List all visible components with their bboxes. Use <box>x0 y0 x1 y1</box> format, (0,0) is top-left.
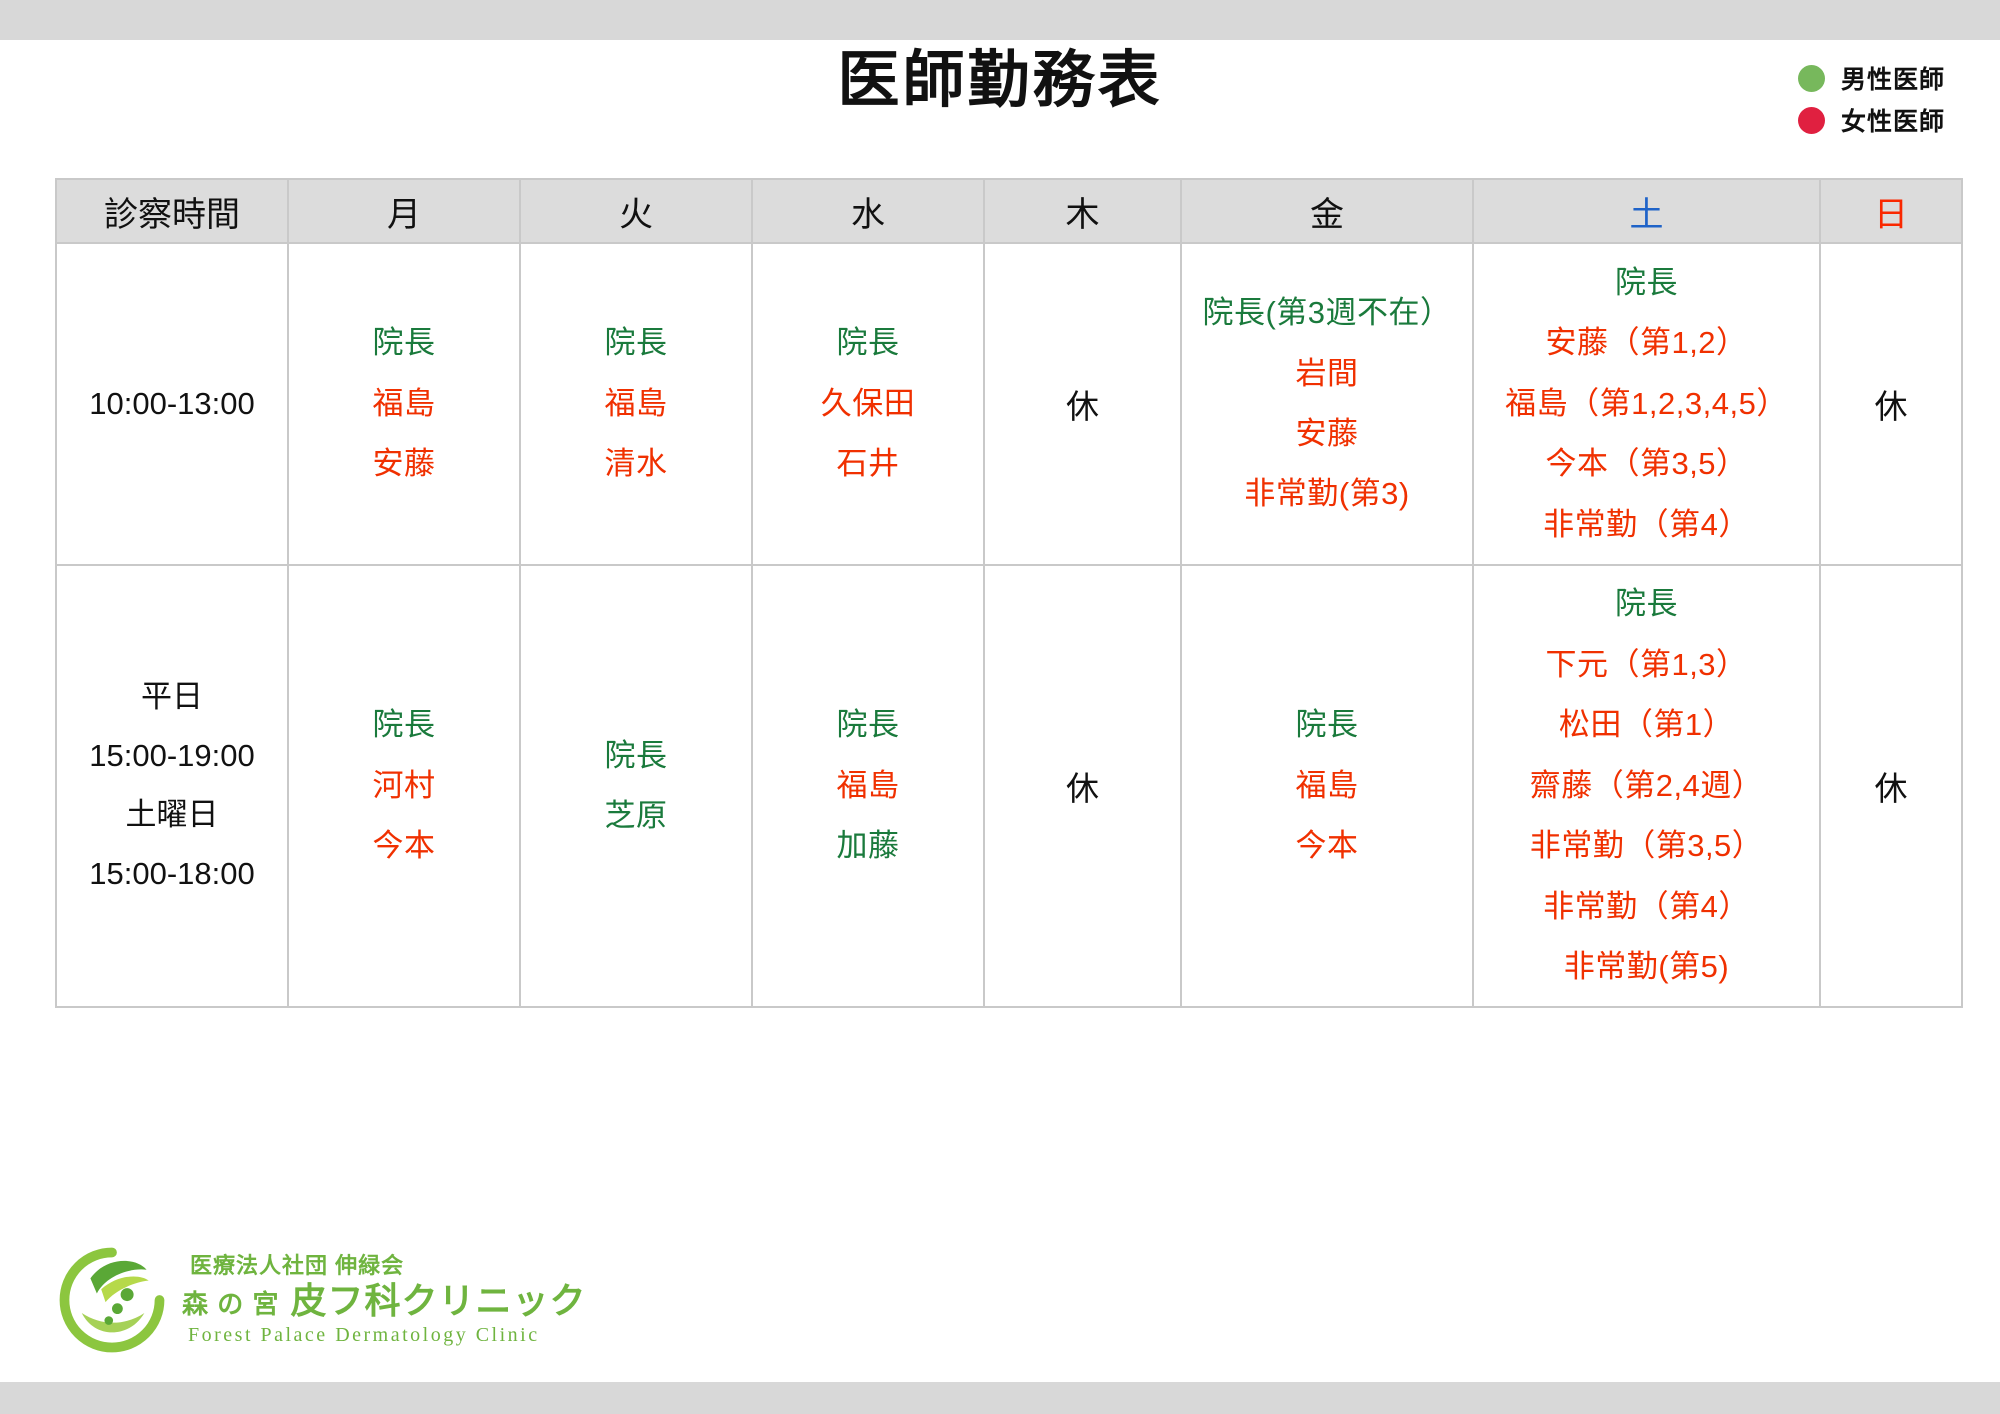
cell-wednesday: 院長福島加藤 <box>752 565 984 1007</box>
doctor-entry-list: 院長福島清水 <box>521 313 751 494</box>
clinic-logo-text: 医療法人社団 伸緑会 森 の 宮 皮フ科クリニック Forest Palace … <box>182 1254 586 1346</box>
column-header-friday-label: 金 <box>1310 196 1344 234</box>
cell-tuesday: 院長福島清水 <box>520 243 752 565</box>
doctor-schedule-table: 診察時間 月 火 水 木 金 土 日 10:00-13:00院長福島安藤院長福島… <box>55 178 1963 1008</box>
doctor-entry: 加藤 <box>837 816 900 876</box>
gender-legend: 男性医師 女性医師 <box>1798 60 1945 138</box>
time-line: 10:00-13:00 <box>57 375 287 434</box>
doctor-entry: 河村 <box>373 756 436 816</box>
column-header-monday-label: 月 <box>387 196 421 234</box>
consultation-time-text: 平日15:00-19:00土曜日15:00-18:00 <box>57 668 287 904</box>
doctor-entry-list: 休 <box>1821 380 1961 428</box>
doctor-entry: 今本 <box>373 816 436 876</box>
clinic-name-main: 皮フ科クリニック <box>290 1280 586 1321</box>
doctor-entry-list: 院長久保田石井 <box>753 313 983 494</box>
column-header-wednesday: 水 <box>752 179 984 243</box>
doctor-entry-list: 院長福島加藤 <box>753 695 983 876</box>
bottom-decorative-band <box>0 1382 2000 1414</box>
legend-label-female: 女性医師 <box>1841 102 1945 138</box>
doctor-entry: 清水 <box>605 434 668 494</box>
table-header-row: 診察時間 月 火 水 木 金 土 日 <box>56 179 1962 243</box>
doctor-entry: 安藤 <box>373 434 436 494</box>
column-header-monday: 月 <box>288 179 520 243</box>
time-line: 15:00-19:00 <box>57 727 287 786</box>
cell-thursday: 休 <box>984 565 1181 1007</box>
cell-sunday: 休 <box>1820 565 1962 1007</box>
legend-label-male: 男性医師 <box>1841 60 1945 96</box>
column-header-sunday-label: 日 <box>1874 196 1908 234</box>
cell-friday: 院長(第3週不在）岩間安藤非常勤(第3) <box>1181 243 1473 565</box>
cell-consultation-time: 10:00-13:00 <box>56 243 288 565</box>
doctor-entry: 岩間 <box>1296 344 1359 404</box>
time-line: 15:00-18:00 <box>57 845 287 904</box>
doctor-entry: 福島（第1,2,3,4,5） <box>1505 374 1788 434</box>
cell-monday: 院長福島安藤 <box>288 243 520 565</box>
female-doctor-dot-icon <box>1798 107 1825 134</box>
doctor-entry: 安藤（第1,2） <box>1545 313 1747 373</box>
doctor-entry-list: 院長下元（第1,3）松田（第1）齋藤（第2,4週）非常勤（第3,5）非常勤（第4… <box>1474 574 1819 997</box>
cell-saturday: 院長安藤（第1,2）福島（第1,2,3,4,5）今本（第3,5）非常勤（第4） <box>1473 243 1820 565</box>
doctor-entry: 非常勤(第3) <box>1244 464 1409 524</box>
doctor-entry-list: 休 <box>985 380 1180 428</box>
column-header-friday: 金 <box>1181 179 1473 243</box>
clinic-corporation-name: 医療法人社団 伸緑会 <box>190 1254 586 1278</box>
column-header-saturday-label: 土 <box>1630 196 1664 234</box>
doctor-entry: 院長 <box>605 726 668 786</box>
doctor-entry: 齋藤（第2,4週） <box>1530 756 1764 816</box>
table-row: 平日15:00-19:00土曜日15:00-18:00院長河村今本院長芝原院長福… <box>56 565 1962 1007</box>
doctor-entry: 安藤 <box>1296 404 1359 464</box>
doctor-entry-list: 院長芝原 <box>521 726 751 847</box>
doctor-entry: 松田（第1） <box>1559 695 1734 755</box>
closed-marker: 休 <box>1875 380 1908 428</box>
table-row: 10:00-13:00院長福島安藤院長福島清水院長久保田石井休院長(第3週不在）… <box>56 243 1962 565</box>
doctor-entry: 芝原 <box>605 786 668 846</box>
consultation-time-text: 10:00-13:00 <box>57 375 287 434</box>
doctor-entry: 久保田 <box>821 374 916 434</box>
doctor-entry: 院長(第3週不在） <box>1202 283 1451 343</box>
cell-saturday: 院長下元（第1,3）松田（第1）齋藤（第2,4週）非常勤（第3,5）非常勤（第4… <box>1473 565 1820 1007</box>
legend-item-male: 男性医師 <box>1798 60 1945 96</box>
column-header-thursday-label: 木 <box>1066 196 1100 234</box>
time-line: 土曜日 <box>57 786 287 845</box>
doctor-entry: 院長 <box>1296 695 1359 755</box>
schedule-table-wrapper: 診察時間 月 火 水 木 金 土 日 10:00-13:00院長福島安藤院長福島… <box>55 178 1945 1008</box>
column-header-time: 診察時間 <box>56 179 288 243</box>
doctor-entry: 今本 <box>1296 816 1359 876</box>
closed-marker: 休 <box>1875 762 1908 810</box>
doctor-entry: 福島 <box>373 374 436 434</box>
column-header-tuesday-label: 火 <box>619 196 653 234</box>
doctor-entry-list: 休 <box>985 762 1180 810</box>
cell-monday: 院長河村今本 <box>288 565 520 1007</box>
page-header: 医師勤務表 男性医師 女性医師 <box>0 40 2000 138</box>
cell-friday: 院長福島今本 <box>1181 565 1473 1007</box>
doctor-entry: 今本（第3,5） <box>1545 434 1747 494</box>
doctor-entry: 福島 <box>605 374 668 434</box>
doctor-entry: 福島 <box>1296 756 1359 816</box>
column-header-saturday: 土 <box>1473 179 1820 243</box>
doctor-entry-list: 院長福島今本 <box>1182 695 1472 876</box>
clinic-name-ja: 森 の 宮 皮フ科クリニック <box>182 1282 586 1321</box>
doctor-entry: 非常勤（第4） <box>1543 495 1750 555</box>
time-line: 平日 <box>57 668 287 727</box>
closed-marker: 休 <box>1066 762 1099 810</box>
doctor-entry-list: 休 <box>1821 762 1961 810</box>
table-body: 10:00-13:00院長福島安藤院長福島清水院長久保田石井休院長(第3週不在）… <box>56 243 1962 1007</box>
column-header-time-label: 診察時間 <box>104 196 240 234</box>
male-doctor-dot-icon <box>1798 65 1825 92</box>
doctor-entry-list: 院長河村今本 <box>289 695 519 876</box>
doctor-entry: 院長 <box>373 313 436 373</box>
leaf-circle-logo-icon <box>58 1246 166 1354</box>
doctor-entry: 非常勤（第3,5） <box>1530 816 1764 876</box>
doctor-entry: 院長 <box>1615 253 1678 313</box>
schedule-page: 医師勤務表 男性医師 女性医師 診察時間 月 火 水 木 金 <box>0 40 2000 1382</box>
cell-wednesday: 院長久保田石井 <box>752 243 984 565</box>
closed-marker: 休 <box>1066 380 1099 428</box>
legend-item-female: 女性医師 <box>1798 102 1945 138</box>
doctor-entry: 院長 <box>837 695 900 755</box>
cell-consultation-time: 平日15:00-19:00土曜日15:00-18:00 <box>56 565 288 1007</box>
top-decorative-band <box>0 0 2000 40</box>
column-header-sunday: 日 <box>1820 179 1962 243</box>
doctor-entry: 福島 <box>837 756 900 816</box>
doctor-entry-list: 院長安藤（第1,2）福島（第1,2,3,4,5）今本（第3,5）非常勤（第4） <box>1474 253 1819 555</box>
doctor-entry: 院長 <box>1615 574 1678 634</box>
column-header-wednesday-label: 水 <box>851 196 885 234</box>
cell-thursday: 休 <box>984 243 1181 565</box>
column-header-tuesday: 火 <box>520 179 752 243</box>
doctor-entry: 下元（第1,3） <box>1545 635 1747 695</box>
doctor-entry-list: 院長(第3週不在）岩間安藤非常勤(第3) <box>1182 283 1472 525</box>
doctor-entry: 院長 <box>837 313 900 373</box>
doctor-entry: 院長 <box>605 313 668 373</box>
clinic-logo: 医療法人社団 伸緑会 森 の 宮 皮フ科クリニック Forest Palace … <box>58 1246 586 1354</box>
cell-sunday: 休 <box>1820 243 1962 565</box>
page-title: 医師勤務表 <box>0 50 2000 112</box>
clinic-name-en: Forest Palace Dermatology Clinic <box>188 1325 586 1347</box>
doctor-entry: 院長 <box>373 695 436 755</box>
column-header-thursday: 木 <box>984 179 1181 243</box>
cell-tuesday: 院長芝原 <box>520 565 752 1007</box>
doctor-entry: 非常勤（第4） <box>1543 877 1750 937</box>
doctor-entry: 石井 <box>837 434 900 494</box>
clinic-name-prefix: 森 の 宮 <box>182 1289 279 1319</box>
doctor-entry: 非常勤(第5) <box>1564 937 1729 997</box>
doctor-entry-list: 院長福島安藤 <box>289 313 519 494</box>
